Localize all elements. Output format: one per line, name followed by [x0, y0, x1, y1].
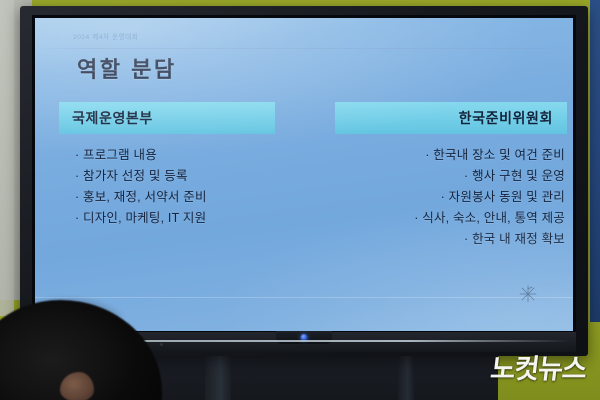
bullet-list-korea: · 한국내 장소 및 여건 준비 · 행사 구현 및 운영 · 자원봉사 동원 … — [331, 145, 569, 250]
wall-side-panel-edge — [0, 0, 14, 322]
tv-stand-right-leg — [398, 352, 414, 400]
list-item: · 참가자 선정 및 등록 — [75, 166, 283, 187]
bezel-screw — [160, 343, 163, 346]
wall-accent-strip — [590, 0, 600, 330]
list-item: · 한국 내 재정 확보 — [331, 229, 565, 250]
slide-header-divider — [35, 48, 573, 49]
column-heading-chip-korea: 한국준비위원회 — [335, 102, 567, 134]
bullet-list-international: · 프로그램 내용 · 참가자 선정 및 등록 · 홍보, 재정, 서약서 준비… — [61, 145, 283, 229]
room-scene: 2024 제4차 운영대회 역할 분담 국제운영본부 한국준비위원회 · 프로그… — [0, 0, 600, 400]
camera-sensor-pod — [276, 331, 332, 344]
list-item: · 식사, 숙소, 안내, 통역 제공 — [331, 208, 565, 229]
viewer-ear — [60, 372, 94, 400]
column-heading-label-international: 국제운영본부 — [72, 108, 153, 128]
list-item: · 홍보, 재정, 서약서 준비 — [75, 187, 283, 208]
screen-blemish-sparkle-icon — [519, 285, 537, 303]
list-item: · 디자인, 마케팅, IT 지원 — [75, 208, 283, 229]
slide-header-text: 2024 제4차 운영대회 — [73, 31, 138, 42]
screen-scanline — [35, 297, 573, 298]
slide-title: 역할 분담 — [77, 52, 177, 84]
column-heading-chip-international: 국제운영본부 — [59, 102, 275, 134]
presentation-slide: 2024 제4차 운영대회 역할 분담 국제운영본부 한국준비위원회 · 프로그… — [35, 18, 573, 331]
display-screen[interactable]: 2024 제4차 운영대회 역할 분담 국제운영본부 한국준비위원회 · 프로그… — [35, 18, 573, 331]
list-item: · 한국내 장소 및 여건 준비 — [331, 145, 565, 166]
list-item: · 프로그램 내용 — [75, 145, 283, 166]
list-item: · 행사 구현 및 운영 — [331, 166, 565, 187]
list-item: · 자원봉사 동원 및 관리 — [331, 187, 565, 208]
tv-stand-left-leg — [205, 352, 231, 400]
column-heading-label-korea: 한국준비위원회 — [459, 108, 553, 128]
news-logo-watermark: 노컷뉴스 — [488, 347, 588, 386]
